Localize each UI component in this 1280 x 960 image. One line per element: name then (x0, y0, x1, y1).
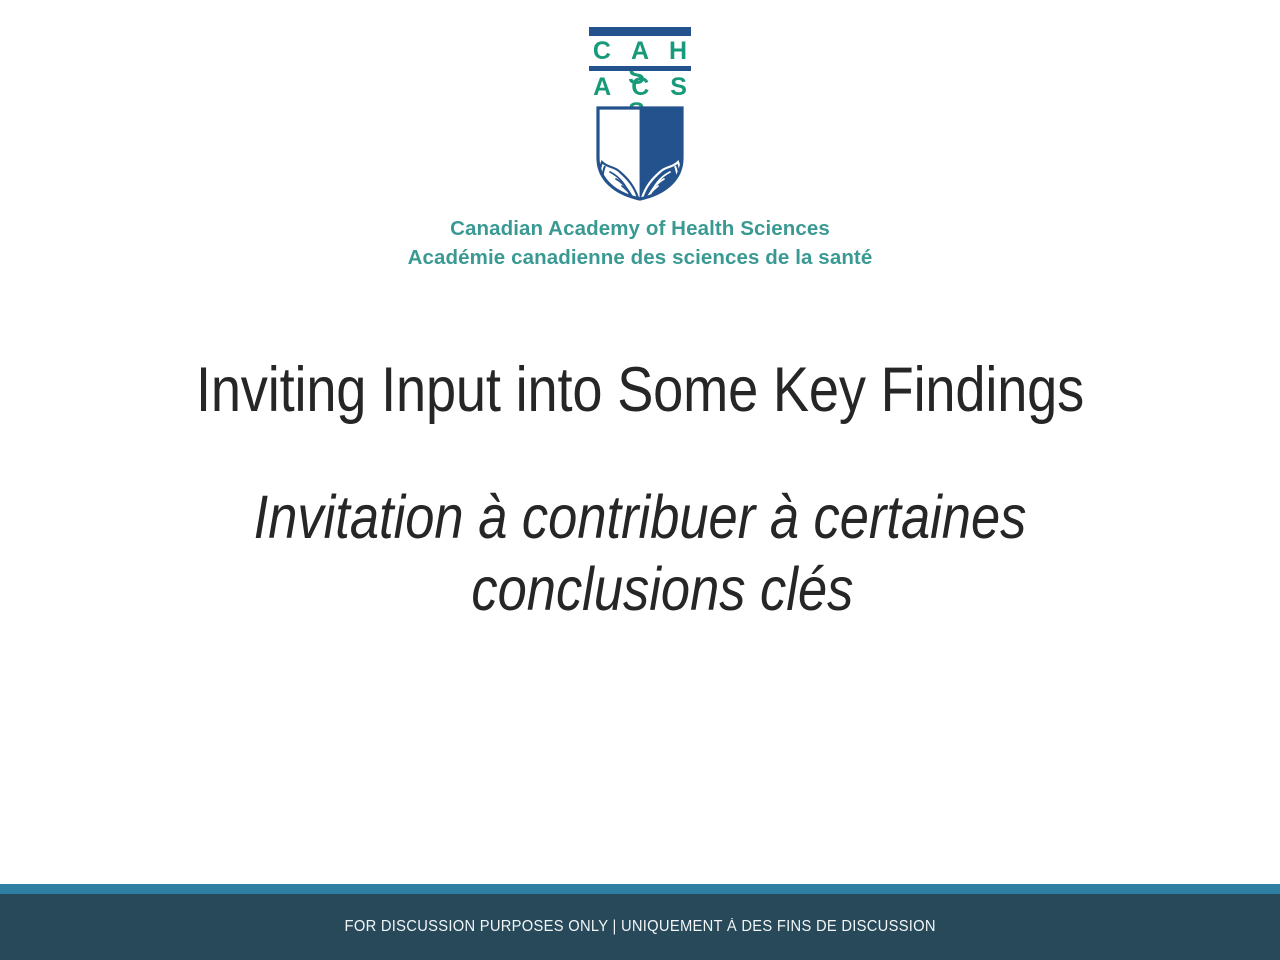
slide-canvas: C A H S A C S S (0, 0, 1280, 960)
slide-subtitle: Invitation à contribuer à certaines conc… (150, 482, 1130, 626)
shield-icon (596, 106, 684, 201)
logo-rule-middle (589, 66, 691, 71)
cahs-logo: C A H S A C S S (0, 22, 1280, 272)
slide-subtitle-line-2: conclusions clés (150, 554, 1130, 626)
logo-tagline-fr: Académie canadienne des sciences de la s… (408, 243, 873, 272)
logo-tagline-en: Canadian Academy of Health Sciences (408, 214, 873, 243)
logo-mark: C A H S A C S S (578, 22, 702, 200)
title-spacer (70, 426, 1210, 482)
footer-accent-bar (0, 884, 1280, 894)
slide-title: Inviting Input into Some Key Findings (150, 355, 1130, 426)
title-area: Inviting Input into Some Key Findings In… (70, 355, 1210, 625)
footer-disclaimer-text: FOR DISCUSSION PURPOSES ONLY | UNIQUEMEN… (344, 918, 935, 936)
logo-tagline: Canadian Academy of Health Sciences Acad… (408, 214, 873, 272)
slide-subtitle-line-1: Invitation à contribuer à certaines (150, 482, 1130, 554)
logo-rule-top (589, 27, 691, 36)
footer-bar: FOR DISCUSSION PURPOSES ONLY | UNIQUEMEN… (0, 894, 1280, 960)
